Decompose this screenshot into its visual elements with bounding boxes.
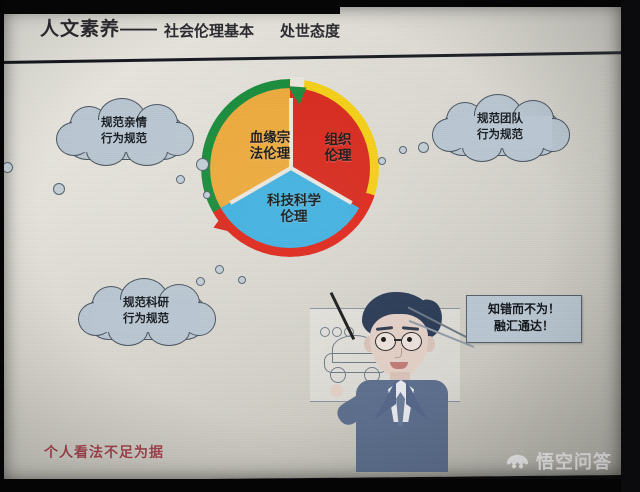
thought-dot — [203, 191, 211, 199]
thought-dot — [53, 183, 65, 195]
slice-label-line: 血缘宗 — [238, 130, 302, 146]
thought-dot — [418, 142, 429, 153]
board-sketch — [320, 327, 330, 337]
hand — [330, 384, 343, 397]
slice-label-line: 科技科学 — [252, 193, 336, 209]
footnote-text: 个人看法不足为据 — [44, 442, 164, 462]
slide-title: 人文素养 —— 社会伦理基本 处世态度 — [40, 14, 340, 41]
cloud-text: 规范科研 行为规范 — [86, 296, 206, 327]
slice-label-organization: 组织 伦理 — [314, 132, 362, 164]
frame-edge-bottom — [0, 479, 640, 492]
speech-line: 融汇通达！ — [469, 318, 579, 335]
speech-line: 知错而不为！ — [469, 301, 579, 318]
wukong-logo-icon — [506, 454, 529, 469]
thought-dot — [176, 175, 185, 184]
watermark: 悟空问答 — [506, 448, 612, 474]
title-main-text: 人文素养 — [40, 14, 120, 41]
glasses-lens-left-icon — [375, 332, 396, 351]
glasses-bridge-icon — [394, 339, 402, 341]
watermark-text: 悟空问答 — [536, 448, 612, 474]
board-sketch — [332, 327, 342, 337]
teacher-illustration — [318, 292, 478, 472]
slice-label-line: 组织 — [314, 132, 362, 148]
cloud-text: 规范团队 行为规范 — [440, 112, 560, 143]
title-dash: —— — [120, 19, 156, 41]
photo-frame: 人文素养 —— 社会伦理基本 处世态度 血缘宗 法伦理 组织 伦理 科技科学 伦… — [0, 0, 640, 492]
slice-label-line: 法伦理 — [238, 146, 302, 162]
cloud-text-line: 行为规范 — [440, 128, 560, 144]
cloud-text: 规范亲情 行为规范 — [64, 116, 184, 147]
thought-dot — [378, 157, 386, 165]
nose — [395, 348, 402, 358]
slice-label-line: 伦理 — [252, 209, 336, 225]
cloud-text-line: 行为规范 — [86, 312, 206, 328]
slice-label-science: 科技科学 伦理 — [252, 193, 336, 225]
eye-left — [381, 337, 386, 342]
thought-dot — [238, 276, 246, 284]
cloud-text-line: 规范亲情 — [64, 116, 184, 132]
frame-edge-left — [0, 0, 4, 492]
frame-edge-right — [621, 0, 640, 492]
title-subtitle2-text: 处世态度 — [280, 20, 340, 41]
wukong-logo-svg — [506, 454, 529, 469]
cloud-text-line: 规范科研 — [86, 296, 206, 312]
slice-label-line: 伦理 — [314, 148, 362, 164]
thought-dot — [196, 158, 209, 171]
frame-edge-top-left — [0, 0, 340, 14]
eye-right — [407, 337, 412, 342]
thought-dot — [196, 277, 205, 286]
thought-dot — [215, 265, 224, 274]
board-sketch — [330, 367, 346, 383]
ethics-wheel-diagram: 血缘宗 法伦理 组织 伦理 科技科学 伦理 — [210, 88, 370, 248]
cloud-text-line: 规范团队 — [440, 112, 560, 128]
slice-label-kinship: 血缘宗 法伦理 — [238, 130, 302, 162]
speech-callout: 知错而不为！ 融汇通达！ — [466, 295, 582, 343]
title-subtitle-text: 社会伦理基本 — [164, 20, 254, 41]
thought-dot — [399, 146, 407, 154]
glasses-lens-right-icon — [401, 332, 422, 351]
cloud-text-line: 行为规范 — [64, 132, 184, 148]
